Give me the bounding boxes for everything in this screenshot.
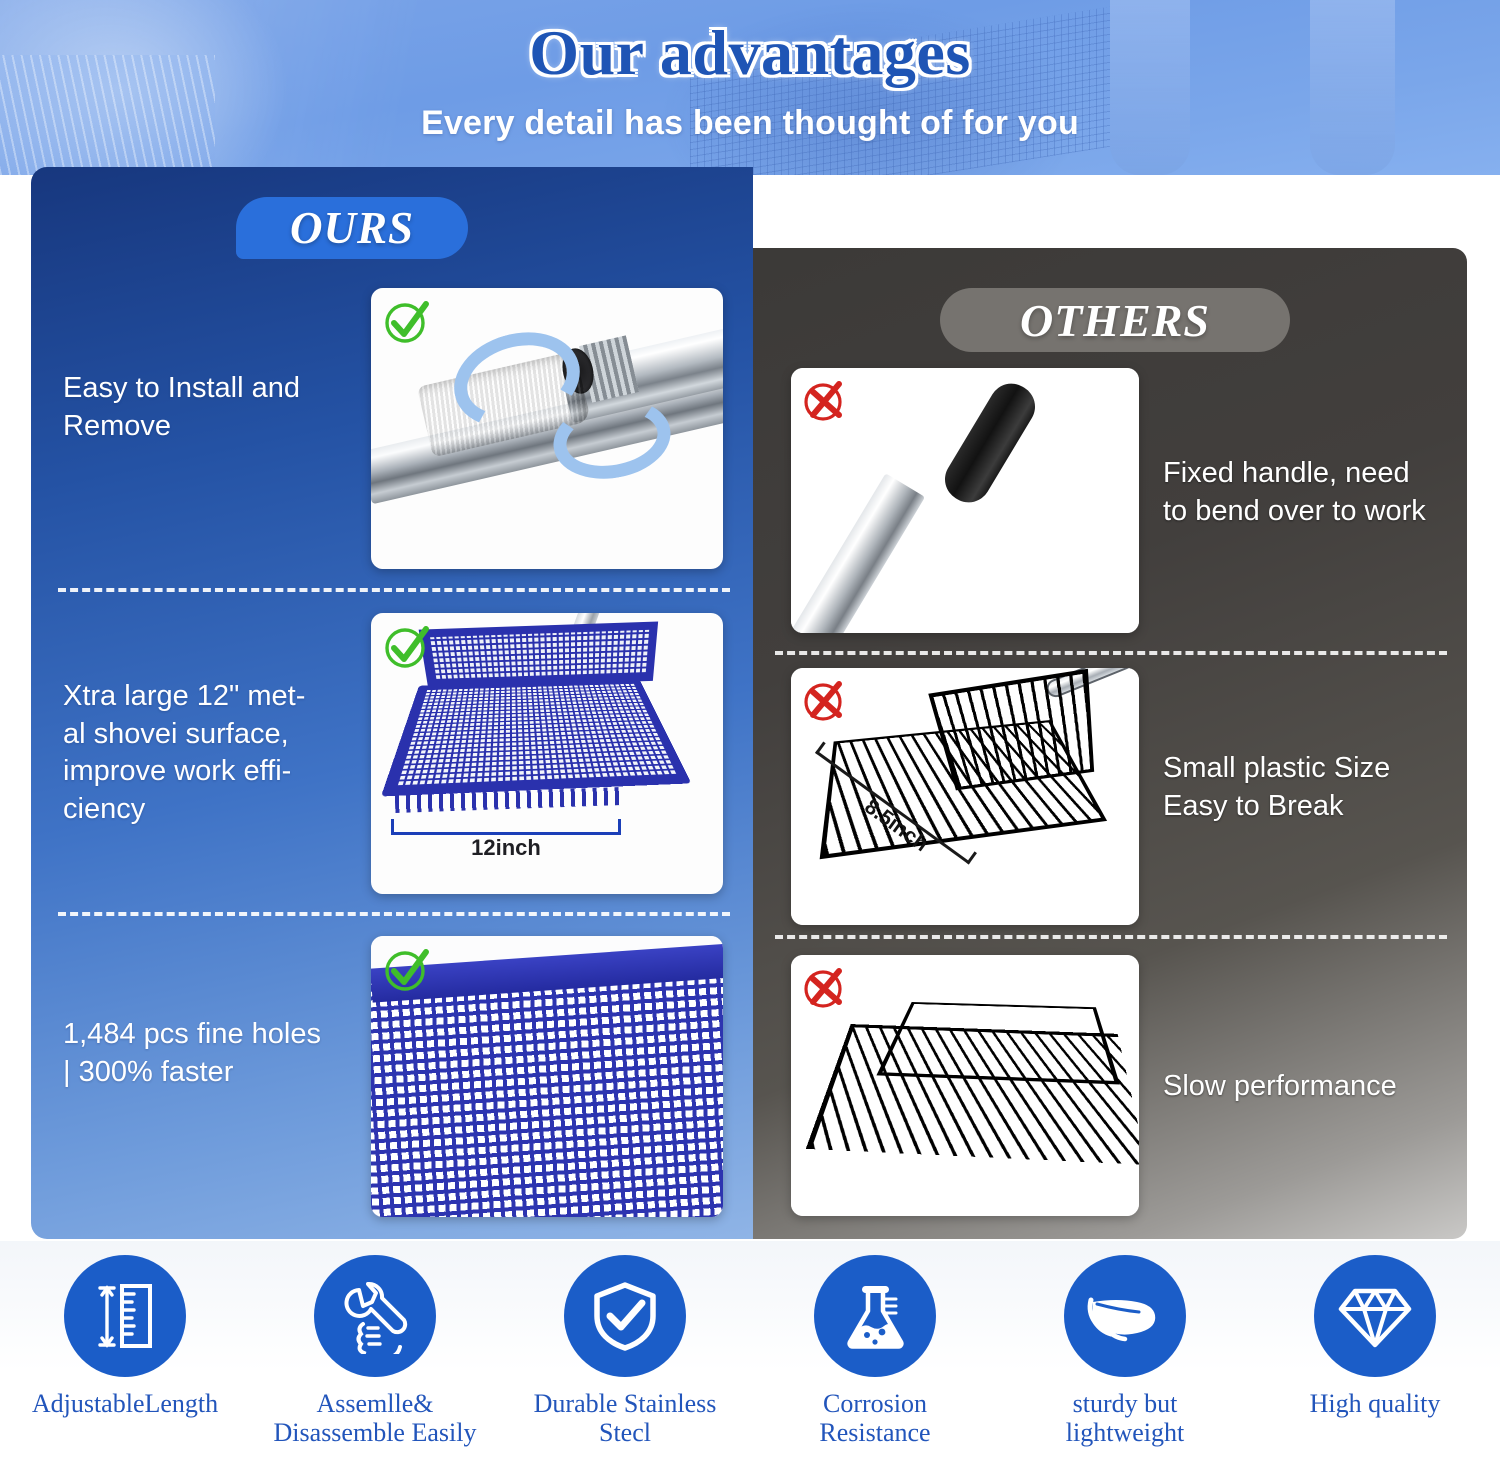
red-cross-icon xyxy=(799,674,851,726)
ours-row-1-label: Easy to Install and Remove xyxy=(63,370,300,445)
feature-corrosion-resistance: Corrosion Resistance xyxy=(750,1241,1000,1478)
ours-row-1: Easy to Install and Remove xyxy=(63,370,353,445)
page-subtitle: Every detail has been thought of for you xyxy=(0,104,1500,143)
others-row-1-photo xyxy=(791,368,1139,633)
ruler-icon xyxy=(88,1279,162,1353)
feature-high-quality: High quality xyxy=(1250,1241,1500,1478)
dimension-bracket xyxy=(391,819,621,835)
feature-sturdy-lightweight: sturdy but lightweight xyxy=(1000,1241,1250,1478)
others-row-3: Slow performance xyxy=(1163,1068,1463,1106)
ours-row-2-label: Xtra large 12" met- al shovei surface, i… xyxy=(63,678,305,829)
ours-row-3-label: 1,484 pcs fine holes | 300% faster xyxy=(63,1016,321,1091)
scoop-fine-hole-grid xyxy=(371,965,723,1217)
others-badge: OTHERS xyxy=(940,288,1290,352)
ours-row-2: Xtra large 12" met- al shovei surface, i… xyxy=(63,678,363,829)
feature-icon-circle xyxy=(314,1255,436,1377)
feature-icon-circle xyxy=(564,1255,686,1377)
feature-icon-circle xyxy=(64,1255,186,1377)
others-row-2-photo: 8.5inch xyxy=(791,668,1139,925)
others-row-3-photo xyxy=(791,955,1139,1216)
ours-row-2-photo: 12inch xyxy=(371,613,723,894)
diamond-icon xyxy=(1337,1281,1413,1351)
flask-icon xyxy=(838,1279,912,1353)
page-title: Our advantages xyxy=(0,16,1500,90)
feature-label: High quality xyxy=(1304,1389,1447,1418)
ours-row-1-photo xyxy=(371,288,723,569)
others-divider-2 xyxy=(775,935,1447,939)
ours-divider-2 xyxy=(58,912,730,916)
others-row-2-label: Small plastic Size Easy to Break xyxy=(1163,750,1390,825)
feather-icon xyxy=(1085,1280,1165,1352)
metal-shaft xyxy=(791,473,925,633)
red-cross-icon xyxy=(799,961,851,1013)
others-row-2: Small plastic Size Easy to Break xyxy=(1163,750,1468,825)
feature-icon-circle xyxy=(1314,1255,1436,1377)
others-row-1-label: Fixed handle, need to bend over to work xyxy=(1163,455,1426,530)
feature-durable-stainless-steel: Durable Stainless Stecl xyxy=(500,1241,750,1478)
feature-icon-circle xyxy=(814,1255,936,1377)
shield-check-icon xyxy=(588,1279,662,1353)
red-cross-icon xyxy=(799,374,851,426)
scoop-mesh-floor xyxy=(381,679,691,796)
ours-row-3-photo xyxy=(371,936,723,1217)
feature-strip: AdjustableLength Assemlle& Disassemble E… xyxy=(0,1241,1500,1478)
others-divider-1 xyxy=(775,651,1447,655)
others-row-1: Fixed handle, need to bend over to work xyxy=(1163,455,1463,530)
green-check-icon xyxy=(381,296,433,348)
ours-row-3: 1,484 pcs fine holes | 300% faster xyxy=(63,1016,373,1091)
green-check-icon xyxy=(381,621,433,673)
black-rubber-grip xyxy=(937,375,1043,510)
others-row-3-label: Slow performance xyxy=(1163,1068,1397,1106)
feature-label: Durable Stainless Stecl xyxy=(528,1389,723,1447)
green-check-icon xyxy=(381,944,433,996)
scoop-back-wall xyxy=(419,621,658,688)
wrench-hand-icon xyxy=(337,1278,413,1354)
feature-label: sturdy but lightweight xyxy=(1060,1389,1190,1447)
feature-label: Corrosion Resistance xyxy=(813,1389,936,1447)
header-banner: Our advantages Every detail has been tho… xyxy=(0,0,1500,175)
feature-assemble-disassemble: Assemlle& Disassemble Easily xyxy=(250,1241,500,1478)
wire-closeup-strands xyxy=(806,1024,1139,1165)
feature-icon-circle xyxy=(1064,1255,1186,1377)
ours-divider-1 xyxy=(58,588,730,592)
feature-adjustable-length: AdjustableLength xyxy=(0,1241,250,1478)
feature-label: Assemlle& Disassemble Easily xyxy=(268,1389,483,1447)
feature-label: AdjustableLength xyxy=(26,1389,224,1418)
ours-dimension-label: 12inch xyxy=(401,835,611,861)
ours-badge: OURS xyxy=(236,197,468,259)
